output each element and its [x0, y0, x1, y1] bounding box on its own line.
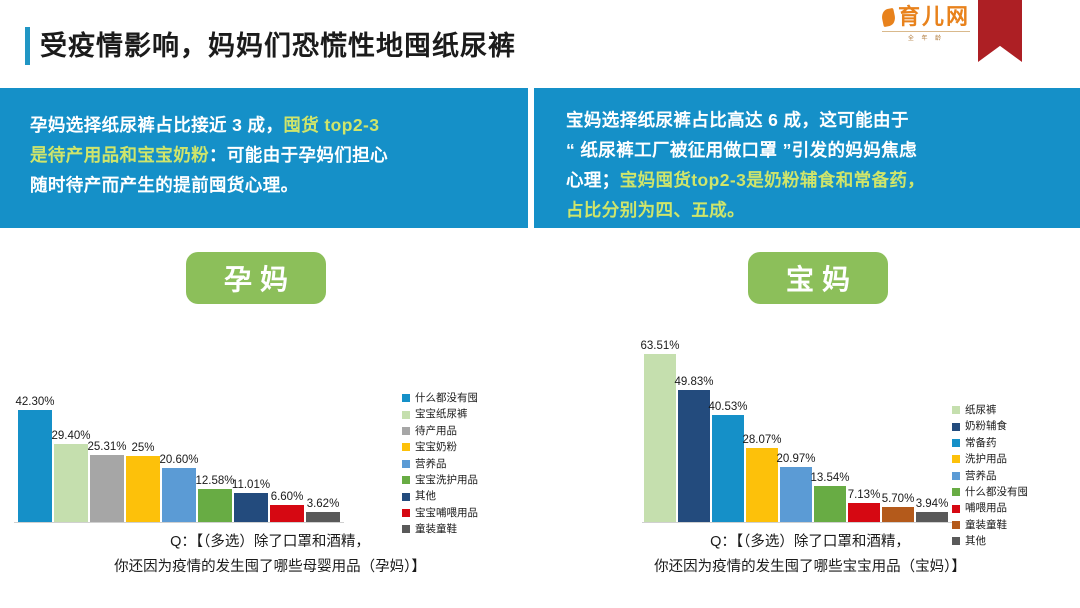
callout-highlight-text: 囤货 top2-3: [283, 115, 379, 135]
legend-item: 奶粉辅食: [952, 418, 1028, 434]
legend-label: 哺喂用品: [965, 500, 1007, 516]
legend-item: 宝宝洗护用品: [402, 472, 478, 488]
legend-label: 宝宝哺喂用品: [415, 505, 478, 521]
question-line-2: 你还因为疫情的发生囤了哪些宝宝用品（宝妈）】: [540, 555, 1080, 580]
question-caption-right: Q：【（多选）除了口罩和酒精， 你还因为疫情的发生囤了哪些宝宝用品（宝妈）】: [540, 530, 1080, 580]
bar: 5.70%: [882, 507, 914, 522]
legend-label: 奶粉辅食: [965, 418, 1007, 434]
legend-label: 宝宝纸尿裤: [415, 406, 468, 422]
legend-swatch: [952, 472, 960, 480]
legend-swatch: [402, 427, 410, 435]
legend-label: 宝宝洗护用品: [415, 472, 478, 488]
bar: 63.51%: [644, 354, 676, 522]
legend-swatch: [402, 460, 410, 468]
callout-line: 随时待产而产生的提前囤货心理。: [30, 170, 502, 200]
badge-pregnant-moms: 孕妈: [186, 252, 326, 304]
bar-value-label: 63.51%: [640, 340, 679, 352]
callout-text: 心理；: [566, 170, 620, 190]
legend-item: 哺喂用品: [952, 500, 1028, 516]
legend-label: 什么都没有囤: [415, 390, 478, 406]
legend-right: 纸尿裤奶粉辅食常备药洗护用品营养品什么都没有囤哺喂用品童装童鞋其他: [952, 402, 1028, 550]
bar-value-label: 13.54%: [810, 472, 849, 484]
callout-line: 占比分别为四、五成。: [566, 195, 1054, 225]
legend-item: 纸尿裤: [952, 402, 1028, 418]
callout-text: 宝妈选择纸尿裤占比高达 6 成，这可能由于: [566, 110, 909, 130]
callout-highlight-text: 是待产用品和宝宝奶粉: [30, 145, 209, 165]
bar: 49.83%: [678, 390, 710, 522]
legend-label: 纸尿裤: [965, 402, 997, 418]
legend-item: 营养品: [402, 456, 478, 472]
callout-line: 孕妈选择纸尿裤占比接近 3 成，囤货 top2-3: [30, 110, 502, 140]
legend-label: 其他: [415, 488, 436, 504]
page-title: 受疫情影响，妈妈们恐慌性地囤纸尿裤: [40, 28, 516, 64]
legend-swatch: [952, 439, 960, 447]
legend-item: 宝宝哺喂用品: [402, 505, 478, 521]
legend-item: 常备药: [952, 435, 1028, 451]
legend-item: 待产用品: [402, 423, 478, 439]
legend-label: 洗护用品: [965, 451, 1007, 467]
legend-label: 营养品: [965, 468, 997, 484]
bar-value-label: 29.40%: [51, 430, 90, 442]
bar: 11.01%: [234, 493, 268, 522]
bar: 3.62%: [306, 512, 340, 522]
bar-value-label: 12.58%: [195, 475, 234, 487]
callout-highlight-text: 宝妈囤货top2-3是奶粉辅食和常备药，: [620, 170, 926, 190]
bar-value-label: 6.60%: [271, 491, 304, 503]
bar-value-label: 28.07%: [742, 434, 781, 446]
bar: 3.94%: [916, 512, 948, 522]
legend-item: 宝宝纸尿裤: [402, 406, 478, 422]
plot-area-right: 63.51%49.83%40.53%28.07%20.97%13.54%7.13…: [588, 308, 908, 523]
panel-new-moms: 宝妈 63.51%49.83%40.53%28.07%20.97%13.54%7…: [540, 232, 1080, 608]
callout-text: 孕妈选择纸尿裤占比接近 3 成，: [30, 115, 283, 135]
panel-pregnant-moms: 孕妈 42.30%29.40%25.31%25%20.60%12.58%11.0…: [0, 232, 540, 608]
bar: 28.07%: [746, 448, 778, 522]
chart-pregnant-moms: 42.30%29.40%25.31%25%20.60%12.58%11.01%6…: [0, 308, 540, 523]
question-line-2: 你还因为疫情的发生囤了哪些母婴用品（孕妈）】: [0, 555, 540, 580]
legend-label: 常备药: [965, 435, 997, 451]
flame-icon: [880, 8, 896, 27]
bar-value-label: 25.31%: [87, 441, 126, 453]
legend-label: 待产用品: [415, 423, 457, 439]
bar: 7.13%: [848, 503, 880, 522]
callout-right: 宝妈选择纸尿裤占比高达 6 成，这可能由于“ 纸尿裤工厂被征用做口罩 ”引发的妈…: [534, 88, 1080, 228]
legend-item: 什么都没有囤: [952, 484, 1028, 500]
legend-swatch: [952, 455, 960, 463]
axis-baseline-left: [14, 522, 344, 523]
bar-value-label: 3.62%: [307, 498, 340, 510]
bar: 20.60%: [162, 468, 196, 522]
bar-value-label: 7.13%: [848, 489, 881, 501]
bar: 6.60%: [270, 505, 304, 522]
legend-item: 什么都没有囤: [402, 390, 478, 406]
logo-text: 育儿网: [898, 5, 970, 30]
callout-line: 心理；宝妈囤货top2-3是奶粉辅食和常备药，: [566, 165, 1054, 195]
legend-item: 宝宝奶粉: [402, 439, 478, 455]
bar-value-label: 20.97%: [776, 453, 815, 465]
legend-swatch: [402, 443, 410, 451]
callout-line: “ 纸尿裤工厂被征用做口罩 ”引发的妈妈焦虑: [566, 135, 1054, 165]
bar-value-label: 49.83%: [674, 376, 713, 388]
question-line-1: Q：【（多选）除了口罩和酒精，: [170, 534, 370, 550]
brand-logo: 育儿网 全 年 龄: [882, 6, 970, 46]
legend-label: 什么都没有囤: [965, 484, 1028, 500]
legend-swatch: [952, 505, 960, 513]
bar-value-label: 40.53%: [708, 401, 747, 413]
callout-text: 随时待产而产生的提前囤货心理。: [30, 175, 299, 195]
legend-left: 什么都没有囤宝宝纸尿裤待产用品宝宝奶粉营养品宝宝洗护用品其他宝宝哺喂用品童装童鞋: [402, 390, 478, 538]
ribbon-decoration: [978, 0, 1022, 62]
bar: 42.30%: [18, 410, 52, 522]
question-caption-left: Q：【（多选）除了口罩和酒精， 你还因为疫情的发生囤了哪些母婴用品（孕妈）】: [0, 530, 540, 580]
legend-swatch: [402, 476, 410, 484]
legend-swatch: [952, 521, 960, 529]
legend-swatch: [402, 493, 410, 501]
bar-value-label: 42.30%: [15, 396, 54, 408]
bar: 20.97%: [780, 467, 812, 522]
bar-value-label: 20.60%: [159, 454, 198, 466]
legend-swatch: [402, 509, 410, 517]
callout-line: 宝妈选择纸尿裤占比高达 6 成，这可能由于: [566, 105, 1054, 135]
bar-value-label: 11.01%: [232, 479, 270, 491]
logo-subtitle: 全 年 龄: [882, 31, 970, 42]
legend-item: 营养品: [952, 468, 1028, 484]
bar: 25%: [126, 456, 160, 522]
legend-swatch: [952, 423, 960, 431]
title-accent-bar: [25, 27, 30, 65]
legend-item: 其他: [402, 488, 478, 504]
bar-value-label: 3.94%: [916, 498, 949, 510]
badge-new-moms: 宝妈: [748, 252, 888, 304]
chart-panels: 孕妈 42.30%29.40%25.31%25%20.60%12.58%11.0…: [0, 232, 1080, 608]
bar: 12.58%: [198, 489, 232, 522]
legend-swatch: [402, 394, 410, 402]
callout-highlight-text: 占比分别为四、五成。: [566, 200, 745, 220]
logo-text-wrap: 育儿网: [882, 6, 970, 30]
callout-line: 是待产用品和宝宝奶粉：可能由于孕妈们担心: [30, 140, 502, 170]
bar-value-label: 25%: [131, 442, 154, 454]
legend-item: 洗护用品: [952, 451, 1028, 467]
bar: 29.40%: [54, 444, 88, 522]
header: 受疫情影响，妈妈们恐慌性地囤纸尿裤 育儿网 全 年 龄: [0, 0, 1080, 88]
bar: 13.54%: [814, 486, 846, 522]
callout-text: “ 纸尿裤工厂被征用做口罩 ”引发的妈妈焦虑: [566, 140, 917, 160]
legend-label: 宝宝奶粉: [415, 439, 457, 455]
callout-left: 孕妈选择纸尿裤占比接近 3 成，囤货 top2-3是待产用品和宝宝奶粉：可能由于…: [0, 88, 528, 228]
callout-row: 孕妈选择纸尿裤占比接近 3 成，囤货 top2-3是待产用品和宝宝奶粉：可能由于…: [0, 88, 1080, 228]
question-line-1: Q：【（多选）除了口罩和酒精，: [710, 534, 910, 550]
bar: 25.31%: [90, 455, 124, 522]
legend-label: 营养品: [415, 456, 447, 472]
legend-swatch: [952, 406, 960, 414]
slide-root: 受疫情影响，妈妈们恐慌性地囤纸尿裤 育儿网 全 年 龄 孕妈选择纸尿裤占比接近 …: [0, 0, 1080, 608]
bar: 40.53%: [712, 415, 744, 522]
bar-value-label: 5.70%: [882, 493, 915, 505]
plot-area-left: 42.30%29.40%25.31%25%20.60%12.58%11.01%6…: [0, 308, 340, 523]
chart-new-moms: 63.51%49.83%40.53%28.07%20.97%13.54%7.13…: [540, 308, 1080, 523]
legend-swatch: [402, 411, 410, 419]
axis-baseline-right: [642, 522, 960, 523]
callout-text: ：可能由于孕妈们担心: [209, 145, 388, 165]
legend-swatch: [952, 488, 960, 496]
